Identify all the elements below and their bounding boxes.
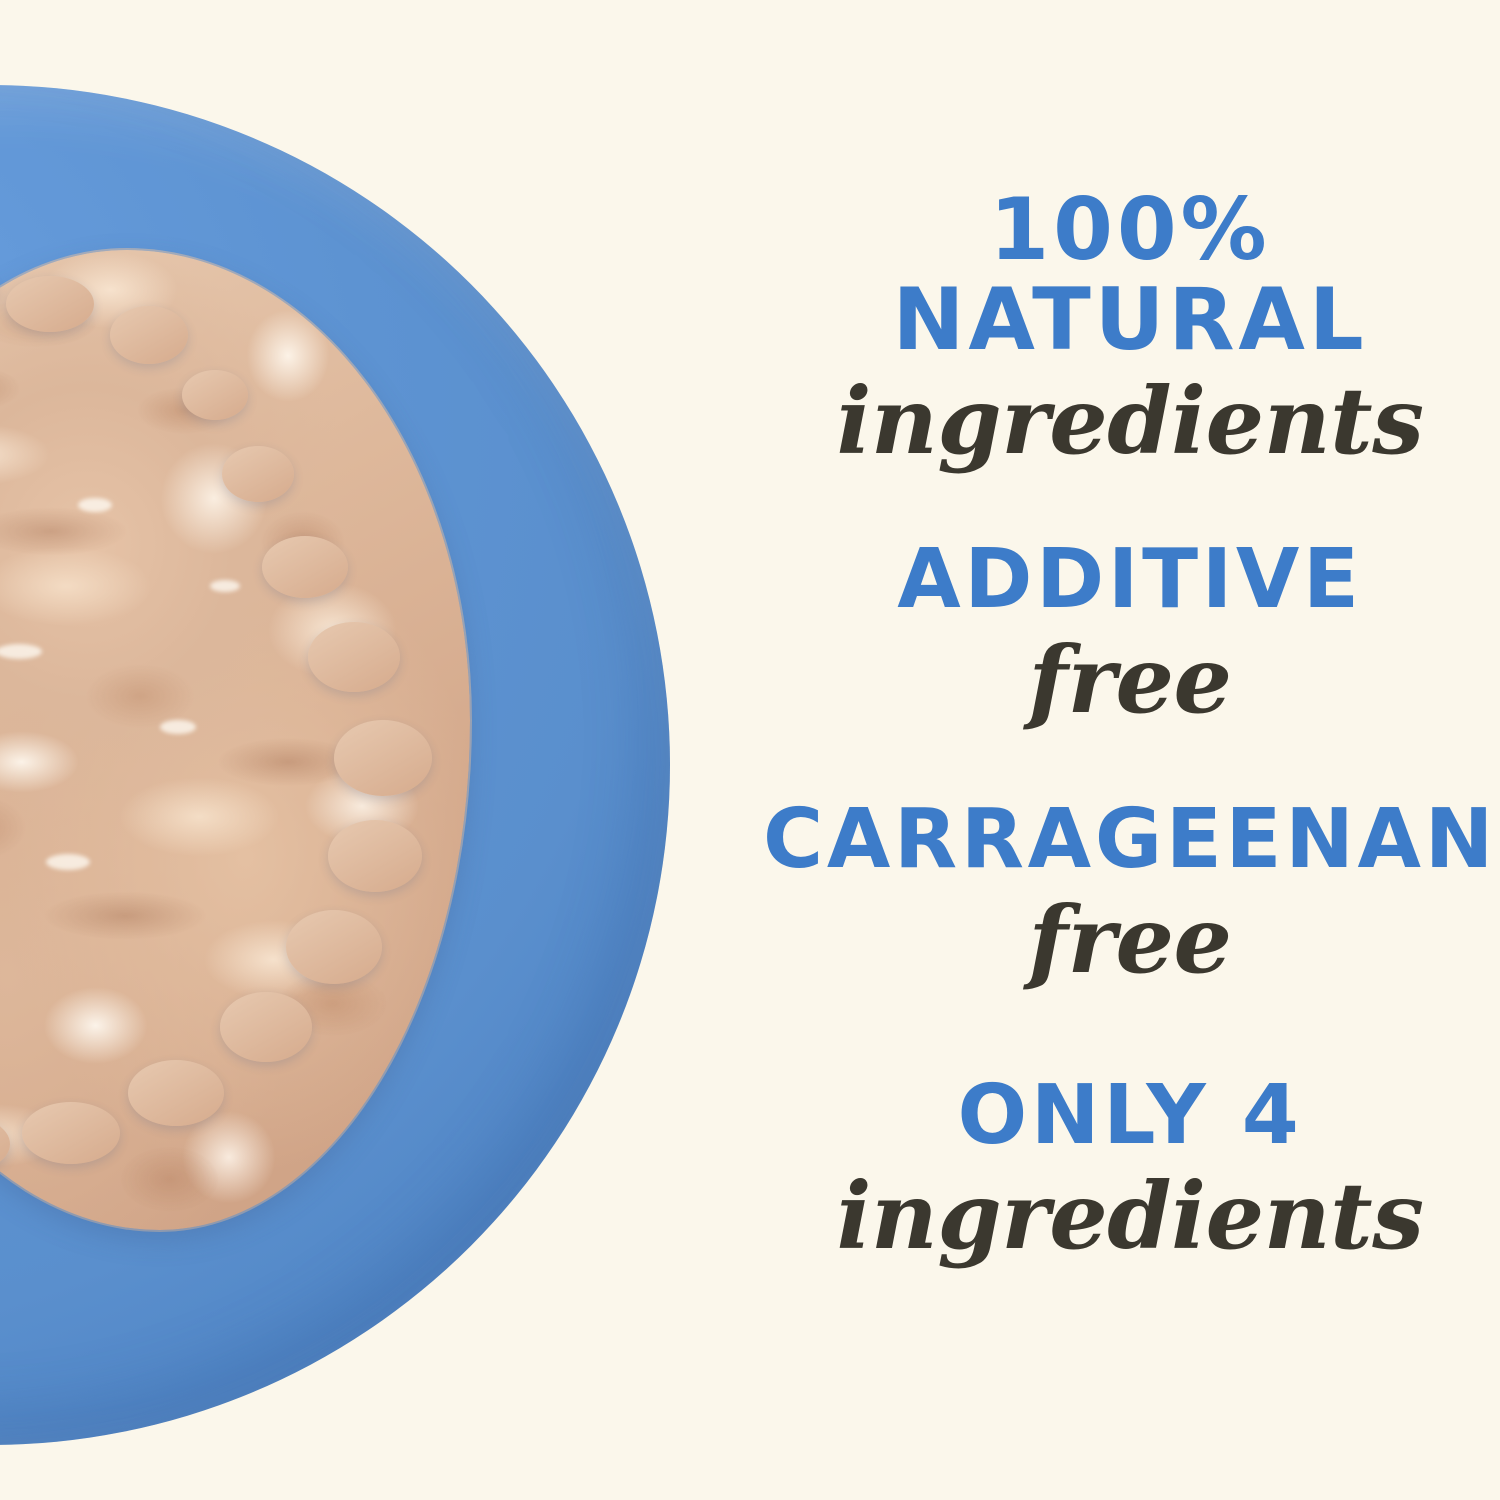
food-edge-clump xyxy=(22,1102,120,1164)
food-edge-clump xyxy=(286,910,382,984)
food-glint xyxy=(78,498,112,512)
claim-headline: 100% NATURAL xyxy=(760,188,1500,363)
food-edge-clump xyxy=(328,820,422,892)
claim-headline: ADDITIVE xyxy=(760,540,1500,620)
product-photo xyxy=(0,0,760,1500)
food-edge-clump xyxy=(220,992,312,1062)
food-edge-clump xyxy=(128,1060,224,1126)
claim-headline-line2: NATURAL xyxy=(760,278,1500,362)
claim-script: free xyxy=(760,894,1500,986)
food-edge-clump xyxy=(334,720,432,796)
claim-script: ingredients xyxy=(760,1170,1500,1262)
food-glint xyxy=(46,854,90,870)
food-glint xyxy=(210,580,240,592)
food-edge-clump xyxy=(110,306,188,364)
claim-additive-free: ADDITIVE free xyxy=(760,540,1500,726)
claim-natural-ingredients: 100% NATURAL ingredients xyxy=(760,188,1500,467)
claim-headline: CARRAGEENAN xyxy=(760,800,1500,880)
claim-headline-line1: 100% xyxy=(989,180,1270,280)
food-edge-clump xyxy=(262,536,348,598)
food-edge-clump xyxy=(182,370,248,420)
claim-script: ingredients xyxy=(760,375,1500,467)
food-edge-clump xyxy=(6,276,94,332)
product-feature-graphic: 100% NATURAL ingredients ADDITIVE free C… xyxy=(0,0,1500,1500)
food-edge-clump xyxy=(222,446,294,502)
claim-only-4-ingredients: ONLY 4 ingredients xyxy=(760,1076,1500,1262)
food-portion xyxy=(0,250,470,1230)
claim-script: free xyxy=(760,634,1500,726)
food-glint xyxy=(160,720,196,734)
claim-headline: ONLY 4 xyxy=(760,1076,1500,1156)
claim-carrageenan-free: CARRAGEENAN free xyxy=(760,800,1500,986)
food-edge-clump xyxy=(308,622,400,692)
claims-column: 100% NATURAL ingredients ADDITIVE free C… xyxy=(760,0,1500,1500)
